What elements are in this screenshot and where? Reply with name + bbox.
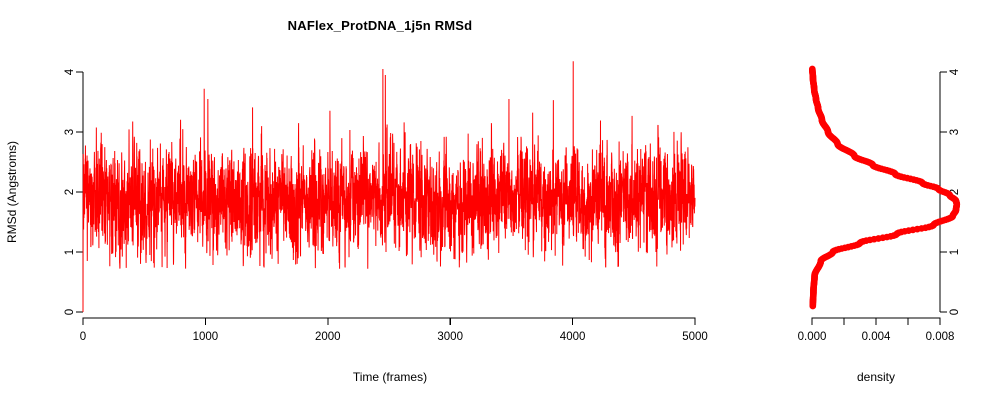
rmsd-data-line <box>83 61 695 312</box>
density-y-axis-tick-label: 0 <box>949 309 961 315</box>
x-axis-tick-label: 5000 <box>682 331 708 343</box>
density-chart: 0.0000.0040.008 01234 density <box>760 0 1000 400</box>
x-axis-title: Time (frames) <box>353 370 427 384</box>
y-axis-tick-labels: 01234 <box>64 68 76 315</box>
y-axis-tick-label: 2 <box>64 189 76 195</box>
rmsd-figure: NAFlex_ProtDNA_1j5n RMSd 01234 010002000… <box>0 0 1000 400</box>
x-axis-tick-label: 3000 <box>437 331 463 343</box>
y-axis-tick-label: 3 <box>64 129 76 135</box>
x-axis-tick-labels: 010002000300040005000 <box>80 331 708 343</box>
density-x-axis-tick-label: 0.008 <box>926 331 955 343</box>
y-axis-tick-label: 1 <box>64 249 76 255</box>
density-y-axis-tick-label: 4 <box>949 68 961 75</box>
y-axis-tick-label: 4 <box>64 68 76 75</box>
y-axis-title: RMSd (Angstroms) <box>5 141 19 243</box>
y-axis-tick-label: 0 <box>64 309 76 315</box>
density-panel: 0.0000.0040.008 01234 density <box>760 0 1000 400</box>
x-axis-line <box>83 318 695 325</box>
x-axis-tick-label: 0 <box>80 331 86 343</box>
x-axis-tick-label: 4000 <box>560 331 586 343</box>
density-x-axis-tick-labels: 0.0000.0040.008 <box>798 331 955 343</box>
density-data-curve <box>810 66 960 308</box>
rmsd-trace-panel: 01234 010002000300040005000 Time (frames… <box>0 0 760 400</box>
density-x-axis-tick-label: 0.000 <box>798 331 827 343</box>
density-x-axis-line <box>812 318 940 325</box>
y-axis-line <box>76 72 83 312</box>
density-y-axis-tick-label: 1 <box>949 249 961 255</box>
x-axis-tick-label: 1000 <box>193 331 219 343</box>
density-x-axis-tick-label: 0.004 <box>862 331 891 343</box>
density-x-axis-title: density <box>857 370 895 384</box>
x-axis-tick-label: 2000 <box>315 331 341 343</box>
density-y-axis-tick-label: 3 <box>949 129 961 135</box>
rmsd-trace-chart: 01234 010002000300040005000 Time (frames… <box>0 0 760 400</box>
